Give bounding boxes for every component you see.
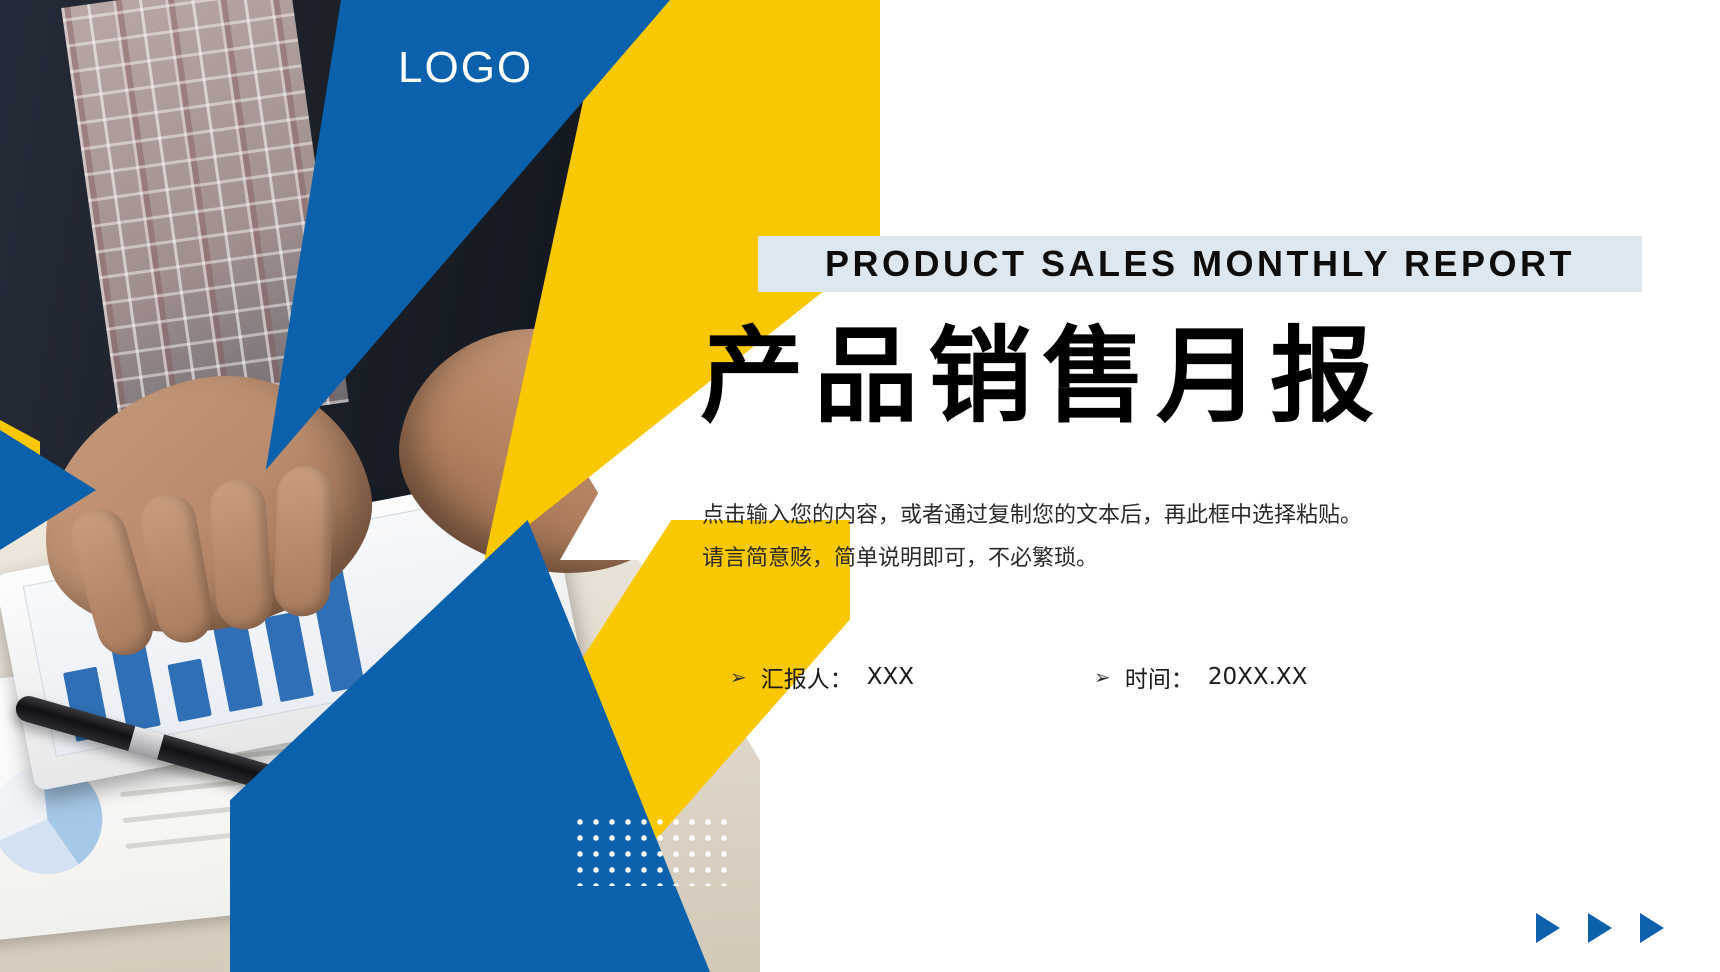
play-triangle-icon[interactable]	[1536, 913, 1560, 943]
meta-label-reporter: 汇报人：	[761, 660, 853, 694]
meta-row: ➢ 汇报人： XXX ➢ 时间： 20XX.XX	[730, 660, 1450, 694]
white-panel-right	[860, 0, 1720, 972]
meta-value-reporter: XXX	[867, 664, 914, 690]
body-line-2: 请言简意赅，简单说明即可，不必繁琐。	[702, 538, 1502, 581]
meta-item-reporter: ➢ 汇报人： XXX	[730, 660, 914, 694]
play-arrows-group	[1536, 908, 1706, 948]
bullet-marker-icon: ➢	[730, 665, 747, 689]
bullet-marker-icon: ➢	[1094, 665, 1111, 689]
logo-text[interactable]: LOGO	[398, 46, 598, 90]
photo-finger	[273, 465, 334, 617]
body-paragraph: 点击输入您的内容，或者通过复制您的文本后，再此框中选择粘贴。 请言简意赅，简单说…	[702, 495, 1502, 581]
play-triangle-icon[interactable]	[1588, 913, 1612, 943]
photo-chart-bar	[264, 611, 314, 702]
meta-value-date: 20XX.XX	[1208, 664, 1308, 690]
dot-grid-icon	[570, 812, 730, 886]
presentation-slide: LOGO PRODUCT SALES MONTHLY REPORT 产品销售月报…	[0, 0, 1720, 972]
body-line-1: 点击输入您的内容，或者通过复制您的文本后，再此框中选择粘贴。	[702, 495, 1502, 538]
play-triangle-icon[interactable]	[1640, 913, 1664, 943]
page-title: 产品销售月报	[700, 318, 1520, 434]
photo-finger	[208, 478, 274, 632]
meta-label-date: 时间：	[1125, 660, 1194, 694]
photo-chart-bar	[167, 659, 211, 722]
meta-item-date: ➢ 时间： 20XX.XX	[1094, 660, 1307, 694]
english-title: PRODUCT SALES MONTHLY REPORT	[700, 236, 1700, 292]
